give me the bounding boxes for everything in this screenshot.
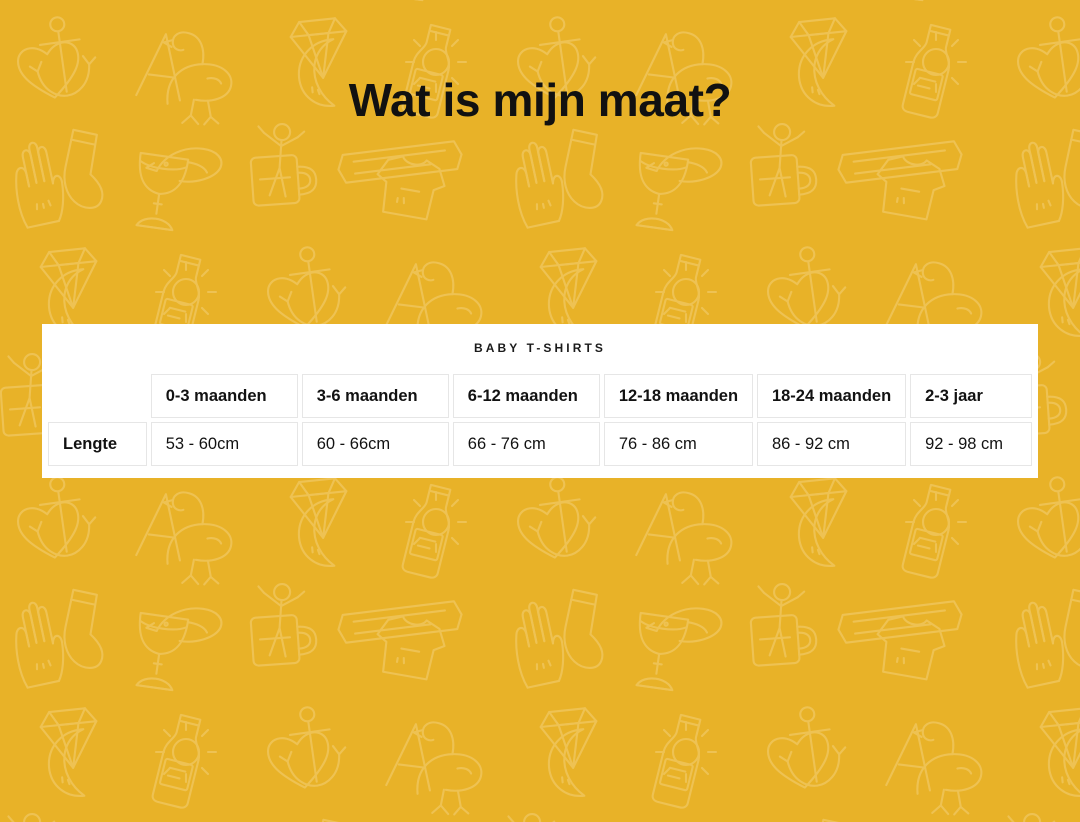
column-header-3-6-maanden: 3-6 maanden [302, 374, 449, 418]
cell-lengte-18-24-maanden: 86 - 92 cm [757, 422, 906, 466]
row-label-lengte: Lengte [48, 422, 147, 466]
column-header-12-18-maanden: 12-18 maanden [604, 374, 753, 418]
size-guide-page: Wat is mijn maat? BABY T-SHIRTS 0-3 maan… [0, 0, 1080, 822]
size-chart-card: BABY T-SHIRTS 0-3 maanden 3-6 maanden 6-… [42, 324, 1038, 478]
column-header-6-12-maanden: 6-12 maanden [453, 374, 600, 418]
table-corner-cell [48, 374, 147, 418]
cell-lengte-12-18-maanden: 76 - 86 cm [604, 422, 753, 466]
cell-lengte-6-12-maanden: 66 - 76 cm [453, 422, 600, 466]
column-header-0-3-maanden: 0-3 maanden [151, 374, 298, 418]
cell-lengte-3-6-maanden: 60 - 66cm [302, 422, 449, 466]
size-chart-caption: BABY T-SHIRTS [42, 324, 1038, 370]
column-header-18-24-maanden: 18-24 maanden [757, 374, 906, 418]
table-header-row: 0-3 maanden 3-6 maanden 6-12 maanden 12-… [48, 374, 1032, 418]
size-chart-table: 0-3 maanden 3-6 maanden 6-12 maanden 12-… [44, 370, 1036, 470]
column-header-2-3-jaar: 2-3 jaar [910, 374, 1032, 418]
cell-lengte-0-3-maanden: 53 - 60cm [151, 422, 298, 466]
cell-lengte-2-3-jaar: 92 - 98 cm [910, 422, 1032, 466]
table-row: Lengte 53 - 60cm 60 - 66cm 66 - 76 cm 76… [48, 422, 1032, 466]
page-title: Wat is mijn maat? [0, 74, 1080, 127]
